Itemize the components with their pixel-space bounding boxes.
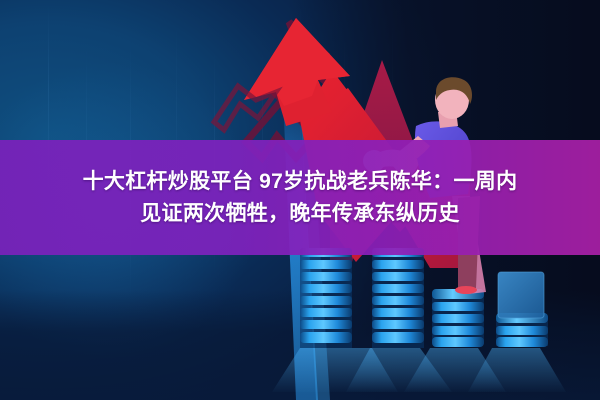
banner-image: 十大杠杆炒股平台 97岁抗战老兵陈华：一周内 见证两次牺牲，晚年传承东纵历史 <box>0 0 600 400</box>
person-shoe <box>455 286 477 294</box>
title-line-1: 十大杠杆炒股平台 97岁抗战老兵陈华：一周内 <box>83 169 518 195</box>
title-banner: 十大杠杆炒股平台 97岁抗战老兵陈华：一周内 见证两次牺牲，晚年传承东纵历史 <box>0 140 600 255</box>
title-line-2: 见证两次牺牲，晚年传承东纵历史 <box>140 201 460 227</box>
